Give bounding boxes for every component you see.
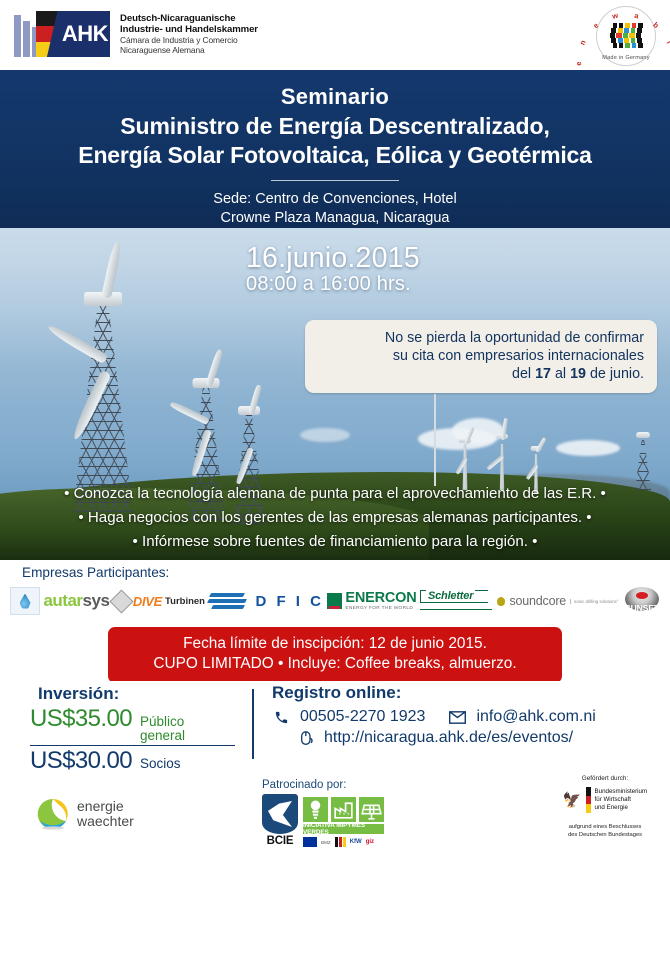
registration-contact-row: 00505-2270 1923 info@ahk.com.ni — [272, 708, 596, 726]
header: AHK Deutsch-Nicaraguanische Industrie- u… — [0, 0, 670, 70]
giz-label: giz — [366, 839, 374, 845]
solar-panel-icon — [359, 797, 384, 822]
wind-turbine-far-1 — [452, 432, 478, 490]
federal-eagle-icon: 🦅 — [563, 793, 582, 808]
company-logo-enercon: ENERCON ENERGY FOR THE WORLD — [327, 586, 416, 616]
price-public-label: Público general — [140, 715, 185, 743]
renewables-tagline: Made in Germany — [597, 55, 655, 61]
renewables-made-in-germany-logo: renewables Made in Germany — [596, 6, 656, 66]
participating-companies-section: Empresas Participantes: autarsys DIVE Tu… — [0, 560, 670, 625]
ew-line2: waechter — [77, 814, 134, 829]
company-logo-row: autarsys DIVE Turbinen D F I C ENERCON — [10, 583, 662, 619]
energie-waechter-text: energie waechter — [77, 799, 134, 828]
wind-turbine-far-2 — [488, 428, 516, 490]
callout-line3-prefix: del — [512, 366, 535, 382]
ahk-name-line1: Deutsch-Nicaraguanische — [120, 13, 258, 24]
bcie-logo: BCIE — [262, 794, 298, 847]
price-public-label-line2: general — [140, 729, 185, 743]
bmwi-logo-row: 🦅 Bundesministerium für Wirtschaft und E… — [545, 787, 665, 813]
price-members-label: Socios — [140, 757, 181, 771]
mipymes-icons — [303, 797, 384, 822]
callout-line1: No se pierda la oportunidad de confirmar — [318, 329, 644, 347]
seminar-title-line2: Energía Solar Fotovoltaica, Eólica y Geo… — [0, 142, 670, 169]
event-time: 08:00 a 16:00 hrs. — [246, 273, 420, 296]
mipymes-funders-row: BMZ KfW giz — [303, 837, 384, 847]
dive-label: DIVE — [133, 594, 162, 609]
registration-title: Registro online: — [272, 683, 596, 703]
venue-line1: Sede: Centro de Convenciones, Hotel — [0, 190, 670, 209]
phone-icon — [272, 709, 291, 726]
email-address[interactable]: info@ahk.com.ni — [476, 708, 595, 726]
company-logo-bonus — [10, 587, 40, 615]
email-icon — [448, 709, 467, 726]
wind-farm-photo: 16.junio.2015 08:00 a 16:00 hrs. No se p… — [0, 228, 670, 560]
factory-icon — [331, 797, 356, 822]
mipymes-verdes-logo: INICIATIVA MIPYMES VERDES BMZ KfW giz — [303, 797, 384, 847]
callout-line2: su cita con empresarios internacionales — [318, 347, 644, 365]
dfic-label: D F I C — [255, 593, 324, 610]
enercon-label: ENERCON — [345, 590, 416, 606]
sponsor-logos: BCIE INICIATIVA MIPYMES VER — [262, 794, 384, 847]
lightbulb-icon — [303, 797, 328, 822]
dive-diamond-icon — [109, 589, 133, 613]
company-logo-dfic: D F I C — [208, 586, 324, 616]
autarsys-label-a: autar — [43, 591, 82, 611]
soundcore-dot-icon — [497, 597, 505, 606]
bmwi-name: Bundesministerium für Wirtschaft und Ene… — [595, 788, 648, 811]
companies-heading: Empresas Participantes: — [22, 565, 169, 580]
energie-waechter-logo: energie waechter — [36, 797, 134, 831]
bmwi-name-line3: und Energie — [595, 804, 648, 812]
company-logo-schletter: Schletter — [420, 589, 494, 613]
callout-line3-mid: al — [551, 366, 570, 382]
bmwi-title: Gefördert durch: — [545, 775, 665, 782]
investment-block: Inversión: US$35.00 Público general US$3… — [30, 684, 255, 775]
seminar-kicker: Seminario — [0, 84, 670, 110]
title-divider — [271, 180, 399, 181]
registration-url-row: http://nicaragua.ahk.de/es/eventos/ — [298, 729, 596, 747]
german-flag-mini-icon — [335, 837, 346, 847]
bmz-label: BMZ — [321, 840, 331, 845]
soundcore-tagline: sonic drilling solutions° — [570, 599, 618, 604]
benefit-item-1: • Conozca la tecnología alemana de punta… — [0, 482, 670, 506]
price-row-members: US$30.00 Socios — [30, 747, 255, 775]
mipymes-banner: INICIATIVA MIPYMES VERDES — [303, 824, 384, 834]
deadline-banner: Fecha límite de inscipción: 12 de junio … — [108, 627, 562, 683]
price-row-public: US$35.00 Público general — [30, 705, 255, 743]
schletter-label: Schletter — [426, 590, 475, 602]
wind-turbine-main — [60, 264, 146, 512]
event-date-block: 16.junio.2015 08:00 a 16:00 hrs. — [246, 242, 420, 296]
ahk-logo: AHK Deutsch-Nicaraguanische Industrie- u… — [14, 11, 258, 57]
ew-line1: energie — [77, 799, 134, 814]
price-members-amount: US$30.00 — [30, 747, 132, 775]
price-divider — [30, 745, 235, 747]
bcie-shield-icon — [262, 794, 298, 834]
ahk-name-line2: Industrie- und Handelskammer — [120, 24, 258, 35]
event-date: 16.junio.2015 — [246, 242, 420, 275]
callout-line3: del 17 al 19 de junio. — [318, 365, 644, 383]
callout-line3-suffix: de junio. — [586, 366, 644, 382]
enercon-text: ENERCON ENERGY FOR THE WORLD — [345, 590, 416, 612]
enercon-mark-icon — [327, 593, 342, 609]
pricing-and-registration: Inversión: US$35.00 Público general US$3… — [0, 681, 670, 773]
sunset-sun-icon — [636, 592, 648, 599]
company-logo-soundcore: soundcore sonic drilling solutions° — [497, 586, 618, 616]
investment-title: Inversión: — [38, 684, 255, 704]
sponsors-title: Patrocinado por: — [262, 779, 384, 791]
wind-turbine-far-4 — [630, 428, 656, 490]
kfw-label: KfW — [350, 839, 362, 845]
registration-block: Registro online: 00505-2270 1923 info@ah… — [272, 683, 596, 747]
company-logo-sunset: SUNSET — [622, 587, 662, 615]
bmwi-footnote-line1: aufgrund eines Beschlusses — [545, 824, 665, 832]
ahk-chamber-name: Deutsch-Nicaraguanische Industrie- und H… — [120, 11, 258, 55]
price-public-amount: US$35.00 — [30, 705, 132, 733]
eu-flag-icon — [303, 837, 317, 847]
soundcore-label: soundcore — [509, 594, 566, 608]
bmwi-name-line2: für Wirtschaft — [595, 796, 648, 804]
mouse-cursor-icon — [298, 730, 317, 747]
bmwi-footnote-line2: des Deutschen Bundestages — [545, 832, 665, 840]
callout-day-to: 19 — [570, 366, 586, 382]
water-drop-icon — [20, 594, 31, 609]
benefits-list: • Conozca la tecnología alemana de punta… — [0, 482, 670, 554]
ahk-name-line4: Nicaraguense Alemana — [120, 46, 258, 56]
met-mast — [434, 394, 436, 486]
ahk-abbreviation: AHK — [60, 11, 110, 57]
bmwi-footnote: aufgrund eines Beschlusses des Deutschen… — [545, 824, 665, 839]
benefit-item-3: • Infórmese sobre fuentes de financiamie… — [0, 530, 670, 554]
dfic-bars-icon — [208, 591, 250, 611]
vertical-divider — [252, 689, 254, 759]
autarsys-label-b: sys — [83, 591, 110, 611]
dive-turbinen-label: Turbinen — [165, 596, 205, 607]
title-banner: Seminario Suministro de Energía Descentr… — [0, 70, 670, 228]
ahk-logo-mark: AHK — [14, 11, 110, 57]
deadline-line1: Fecha límite de inscipción: 12 de junio … — [118, 634, 552, 654]
price-public-label-line1: Público — [140, 715, 185, 729]
energie-waechter-mark-icon — [36, 797, 70, 831]
registration-url[interactable]: http://nicaragua.ahk.de/es/eventos/ — [324, 729, 573, 747]
seminar-title-line1: Suministro de Energía Descentralizado, — [0, 113, 670, 140]
venue-line2: Crowne Plaza Managua, Nicaragua — [0, 209, 670, 228]
sunset-label: SUNSET — [623, 603, 661, 613]
bmwi-ministry-block: Gefördert durch: 🦅 Bundesministerium für… — [545, 775, 665, 839]
company-logo-dive-turbinen: DIVE Turbinen — [113, 586, 205, 616]
schletter-rule — [420, 609, 492, 611]
bmwi-name-line1: Bundesministerium — [595, 788, 648, 796]
appointment-callout: No se pierda la oportunidad de confirmar… — [305, 320, 657, 393]
german-flag-vertical-icon — [586, 787, 591, 813]
enercon-tagline: ENERGY FOR THE WORLD — [345, 607, 416, 612]
benefit-item-2: • Haga negocios con los gerentes de las … — [0, 506, 670, 530]
deadline-line2: CUPO LIMITADO • Incluye: Coffee breaks, … — [118, 654, 552, 674]
deadline-section: Fecha límite de inscipción: 12 de junio … — [0, 625, 670, 681]
footer: energie waechter Patrocinado por: BCIE — [0, 773, 670, 861]
globe-icon — [610, 23, 644, 49]
bcie-label: BCIE — [262, 835, 298, 847]
callout-day-from: 17 — [535, 366, 551, 382]
seminar-flyer: AHK Deutsch-Nicaraguanische Industrie- u… — [0, 0, 670, 953]
sponsors-block: Patrocinado por: BCIE — [262, 779, 384, 847]
company-logo-autarsys: autarsys — [43, 586, 109, 616]
phone-number[interactable]: 00505-2270 1923 — [300, 708, 425, 726]
